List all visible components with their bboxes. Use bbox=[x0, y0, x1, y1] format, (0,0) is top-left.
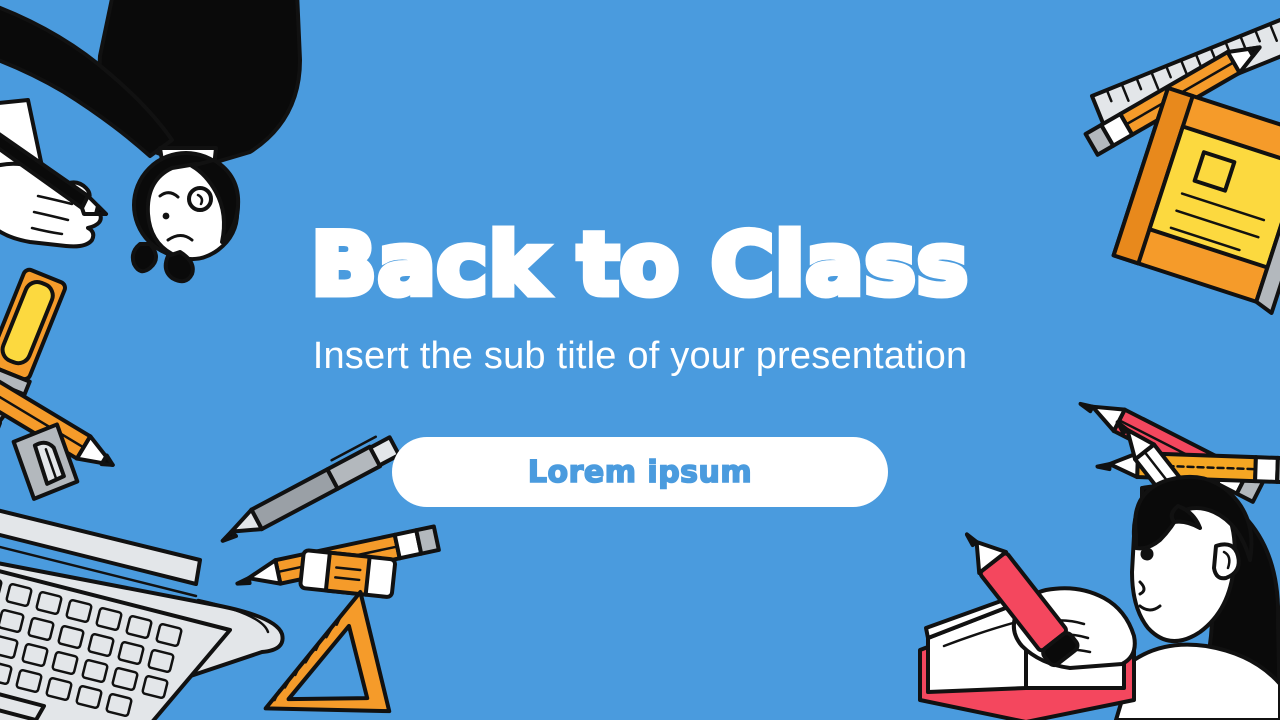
page-title: Back to Class bbox=[0, 222, 1280, 308]
lorem-ipsum-button[interactable]: Lorem ipsum bbox=[392, 437, 888, 507]
page-subtitle: Insert the sub title of your presentatio… bbox=[0, 336, 1280, 378]
slide-content: Back to Class Insert the sub title of yo… bbox=[0, 0, 1280, 720]
slide-canvas: .ol { stroke:#111111; stroke-width:4; st… bbox=[0, 0, 1280, 720]
